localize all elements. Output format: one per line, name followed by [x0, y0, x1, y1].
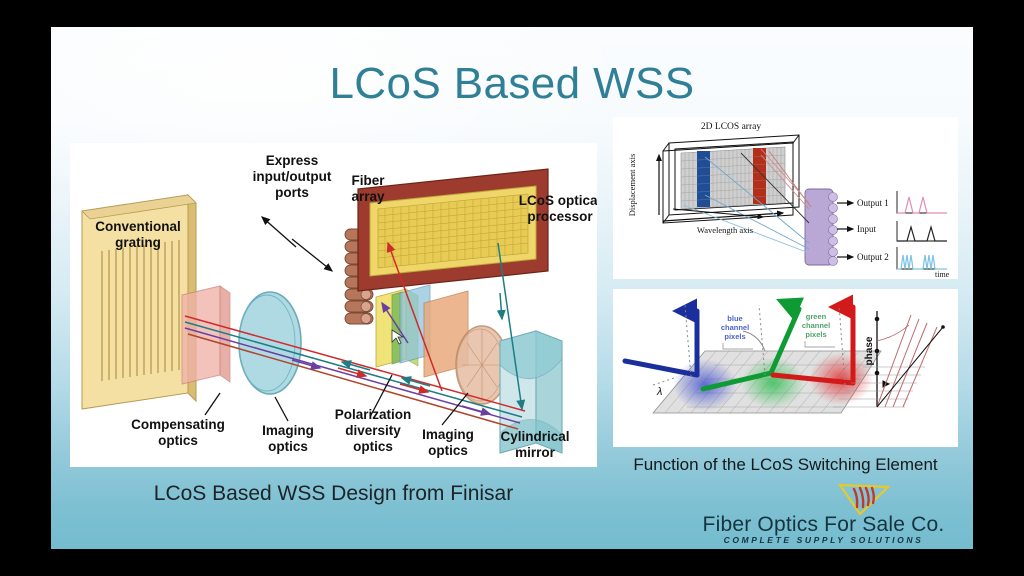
label-conventional-grating-line1: Conventional — [95, 219, 181, 234]
label-conventional-grating-line2: grating — [115, 235, 161, 250]
label-imaging-optics-left-line2: optics — [268, 439, 308, 454]
label-imaging-optics-left-line1: Imaging — [262, 423, 314, 438]
right-diagram-caption: Function of the LCoS Switching Element — [603, 455, 968, 475]
lcos-optical-processor-graphic — [358, 169, 548, 291]
label-express-ports-line1: Express — [266, 153, 319, 168]
signal-traces — [897, 191, 947, 269]
screenshot-stage: LCoS Based WSS — [0, 0, 1024, 576]
output1-trace — [897, 197, 947, 213]
label-compensating-optics-line2: optics — [158, 433, 198, 448]
label-fiber-array-line2: array — [351, 189, 385, 204]
label-green-channel-line3: pixels — [805, 330, 826, 339]
label-polarization-line1: Polarization — [335, 407, 412, 422]
label-wavelength-axis: Wavelength axis — [697, 225, 753, 235]
label-express-ports-line3: ports — [275, 185, 309, 200]
label-cylindrical-mirror-line2: mirror — [515, 445, 556, 460]
waveguide-stack — [805, 189, 838, 266]
label-output2: Output 2 — [857, 252, 889, 262]
label-blue-channel-line1: blue — [727, 314, 742, 323]
logo-company-name: Fiber Optics For Sale Co. — [691, 513, 956, 537]
label-phase-axis: phase — [864, 336, 875, 365]
label-green-channel-line2: channel — [802, 321, 830, 330]
label-fiber-array-line1: Fiber — [351, 173, 385, 188]
label-cylindrical-mirror-line1: Cylindrical — [500, 429, 569, 444]
polarization-diversity-optics-graphic — [376, 285, 468, 377]
label-express-ports-line2: input/output — [253, 169, 332, 184]
label-lambda: λ — [656, 386, 662, 398]
label-imaging-optics-right-line2: optics — [428, 443, 468, 458]
fan-swoosh-icon — [836, 483, 892, 515]
label-2d-lcos-array: 2D LCOS array — [701, 122, 761, 132]
label-lcos-processor-line2: processor — [527, 209, 593, 224]
label-polarization-line2: diversity — [345, 423, 401, 438]
label-time-axis: time — [935, 270, 950, 279]
label-green-channel-line1: green — [806, 312, 827, 321]
2d-lcos-array-illustration: 2D LCOS array Displacement axis Waveleng… — [613, 117, 958, 279]
output-arrows — [837, 203, 853, 257]
main-diagram-caption: LCoS Based WSS Design from Finisar — [70, 482, 597, 506]
company-logo: Fiber Optics For Sale Co. COMPLETE SUPPL… — [691, 489, 956, 547]
label-blue-channel-line2: channel — [721, 323, 749, 332]
page-title: LCoS Based WSS — [51, 61, 973, 107]
label-input: Input — [857, 224, 876, 234]
top-right-diagram-panel: 2D LCOS array Displacement axis Waveleng… — [613, 117, 958, 279]
input-trace — [897, 227, 947, 241]
label-compensating-optics-line1: Compensating — [131, 417, 225, 432]
imaging-optics-left-graphic — [239, 292, 301, 394]
main-diagram-panel: Conventional grating Express input/outpu… — [70, 143, 597, 467]
presentation-slide: LCoS Based WSS — [51, 27, 973, 549]
bottom-right-diagram-panel: phase blue channel pixels green channel … — [613, 289, 958, 447]
lcos-wss-design-illustration: Conventional grating Express input/outpu… — [70, 143, 597, 467]
label-polarization-line3: optics — [353, 439, 393, 454]
lcos-pixel-field — [681, 147, 785, 209]
label-output1: Output 1 — [857, 198, 889, 208]
logo-tagline: COMPLETE SUPPLY SOLUTIONS — [691, 535, 956, 545]
output2-trace — [897, 255, 947, 269]
label-blue-channel-line3: pixels — [724, 332, 745, 341]
label-lcos-processor-line1: LCoS optical — [519, 193, 597, 208]
label-imaging-optics-right-line1: Imaging — [422, 427, 474, 442]
label-displacement-axis: Displacement axis — [627, 154, 637, 217]
lcos-switching-element-illustration: phase blue channel pixels green channel … — [613, 289, 958, 447]
